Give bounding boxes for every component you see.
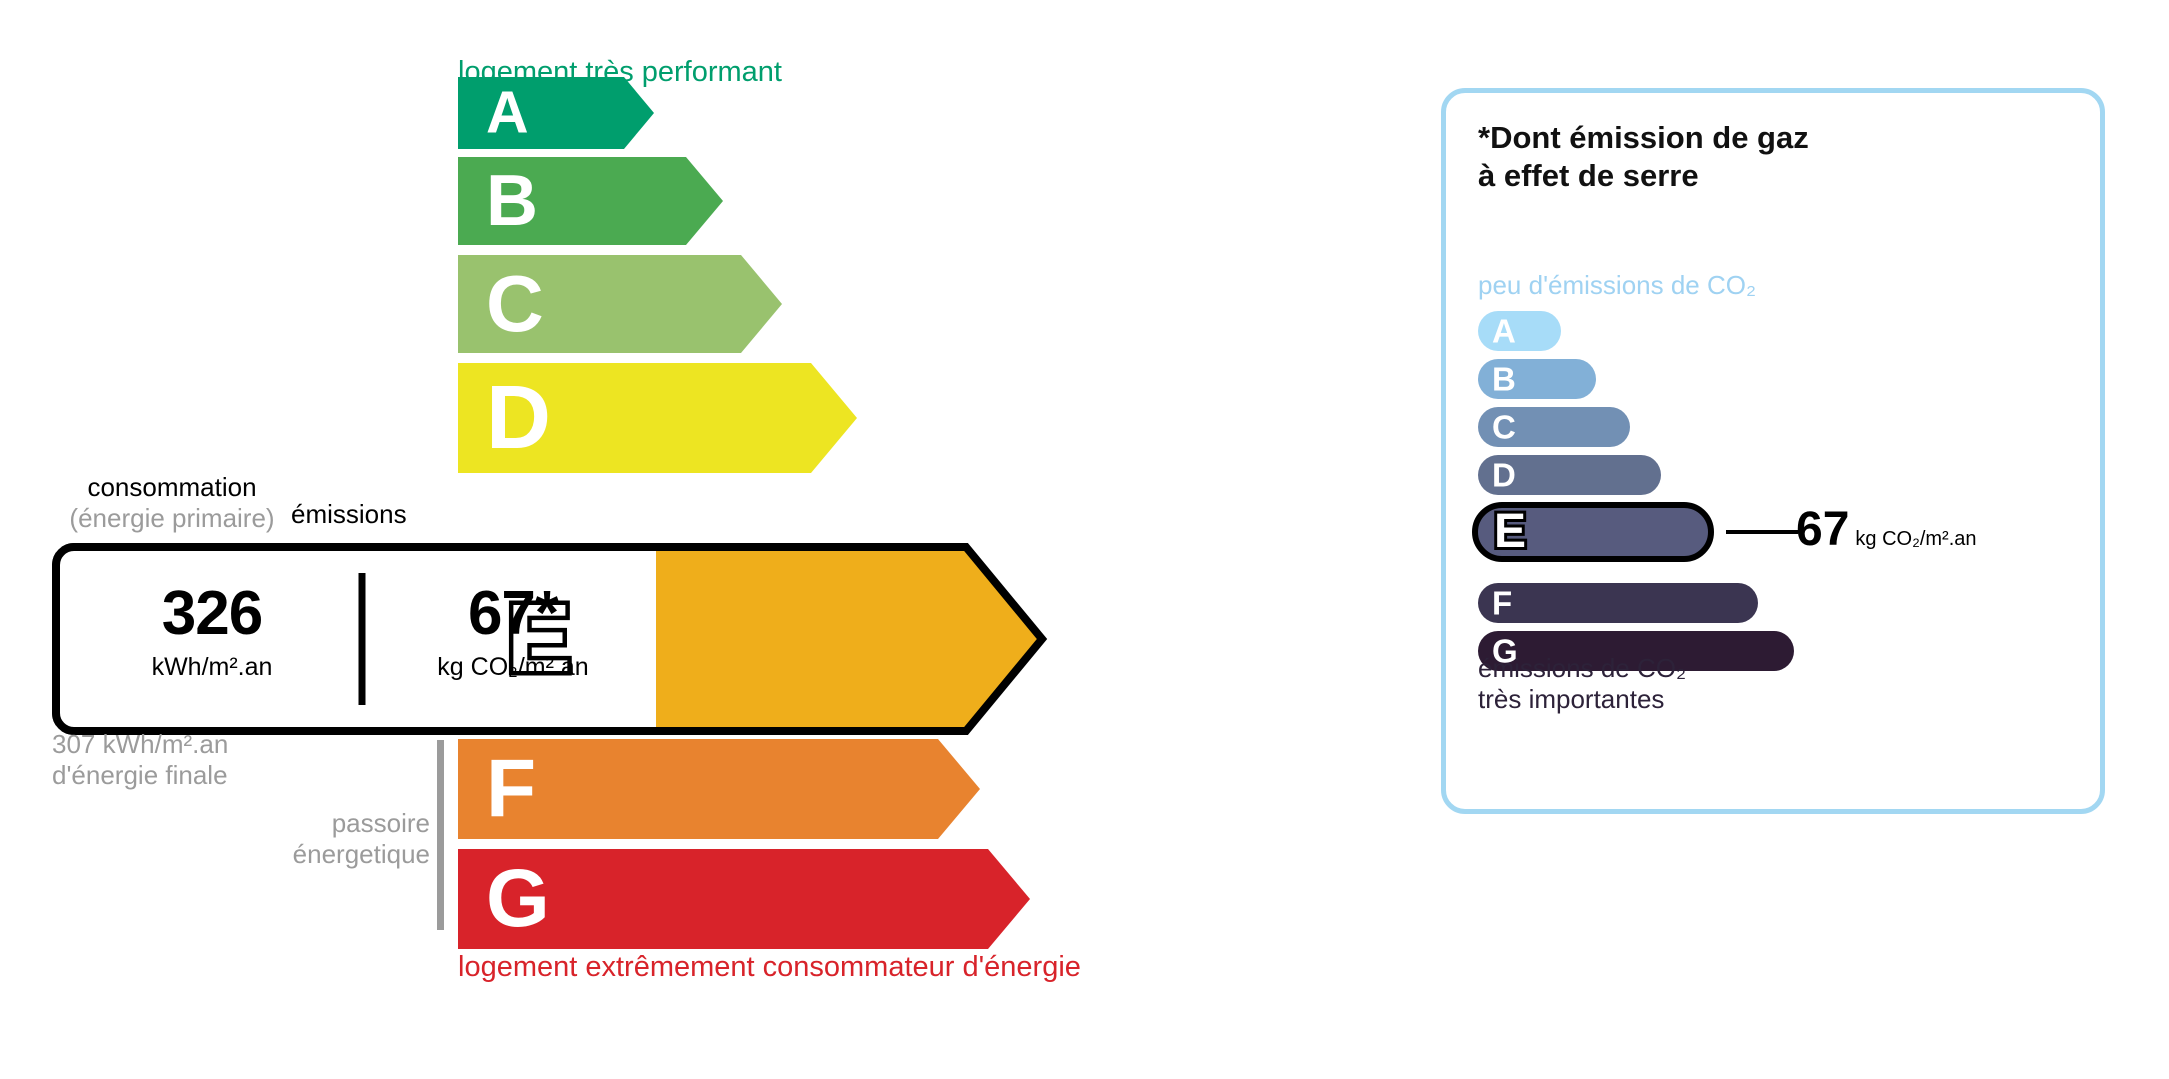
co2-bar-letter-c: C bbox=[1492, 411, 1516, 444]
energy-band-shape-f bbox=[458, 739, 980, 839]
energy-band-letter-g: G bbox=[486, 858, 550, 940]
co2-bar-letter-e: E bbox=[1494, 508, 1526, 556]
co2-unit: kg CO₂/m².an bbox=[1855, 528, 1976, 550]
co2-bar-letter-b: B bbox=[1492, 363, 1516, 396]
consumption-label-main: consommation bbox=[87, 472, 256, 502]
co2-caption-bottom: émissions de CO₂ très importantes bbox=[1478, 653, 1686, 714]
co2-bar-d: D bbox=[1478, 455, 1661, 495]
consumption-label-sub: (énergie primaire) bbox=[66, 503, 278, 534]
current-rating-row: E 326 kWh/m².an 67* kg CO₂/m².an bbox=[52, 543, 1050, 735]
co2-bar-letter-d: D bbox=[1492, 459, 1516, 492]
co2-bar-b: B bbox=[1478, 359, 1596, 399]
energy-band-letter-f: F bbox=[486, 748, 536, 830]
energy-band-letter-c: C bbox=[486, 264, 544, 344]
energy-band-g: G bbox=[458, 849, 1030, 949]
co2-caption-top: peu d'émissions de CO₂ bbox=[1478, 270, 1756, 301]
consumption-label: consommation (énergie primaire) bbox=[66, 472, 278, 534]
energy-band-b: B bbox=[458, 157, 723, 245]
co2-leader-line bbox=[1726, 530, 1798, 534]
energy-consumption-scale: logement très performant ABCDFG E 326 kW… bbox=[0, 0, 1400, 1079]
co2-bar-letter-a: A bbox=[1492, 315, 1516, 348]
co2-bar-e: E bbox=[1472, 502, 1714, 562]
energy-band-a: A bbox=[458, 77, 654, 149]
dpe-label: logement très performant ABCDFG E 326 kW… bbox=[0, 0, 2169, 1079]
emissions-unit: kg CO₂/m².an bbox=[368, 655, 658, 680]
co2-panel-title: *Dont émission de gaz à effet de serre bbox=[1478, 119, 1809, 195]
co2-bar-c: C bbox=[1478, 407, 1630, 447]
energy-band-c: C bbox=[458, 255, 782, 353]
co2-panel: *Dont émission de gaz à effet de serre p… bbox=[1441, 88, 2105, 814]
energy-band-letter-d: D bbox=[486, 373, 551, 463]
co2-value: 67 bbox=[1796, 503, 1849, 556]
energy-band-letter-a: A bbox=[486, 84, 529, 143]
co2-value-group: 67kg CO₂/m².an bbox=[1796, 506, 1977, 554]
scale-caption-bottom: logement extrêmement consommateur d'éner… bbox=[458, 951, 1081, 984]
co2-bar-a: A bbox=[1478, 311, 1561, 351]
emissions-value-group: 67* kg CO₂/m².an bbox=[368, 583, 658, 680]
emissions-value: 67* bbox=[368, 583, 658, 645]
energy-band-f: F bbox=[458, 739, 980, 839]
final-energy-note: 307 kWh/m².an d'énergie finale bbox=[52, 729, 228, 790]
emissions-label: émissions bbox=[291, 499, 407, 530]
co2-bar-letter-f: F bbox=[1492, 587, 1512, 620]
energy-band-letter-b: B bbox=[486, 165, 538, 237]
passoire-label: passoire énergetique bbox=[130, 808, 430, 869]
consumption-value-group: 326 kWh/m².an bbox=[64, 583, 360, 680]
passoire-rule bbox=[437, 740, 444, 930]
consumption-unit: kWh/m².an bbox=[64, 655, 360, 680]
consumption-value: 326 bbox=[64, 583, 360, 645]
co2-bar-f: F bbox=[1478, 583, 1758, 623]
energy-band-d: D bbox=[458, 363, 857, 473]
